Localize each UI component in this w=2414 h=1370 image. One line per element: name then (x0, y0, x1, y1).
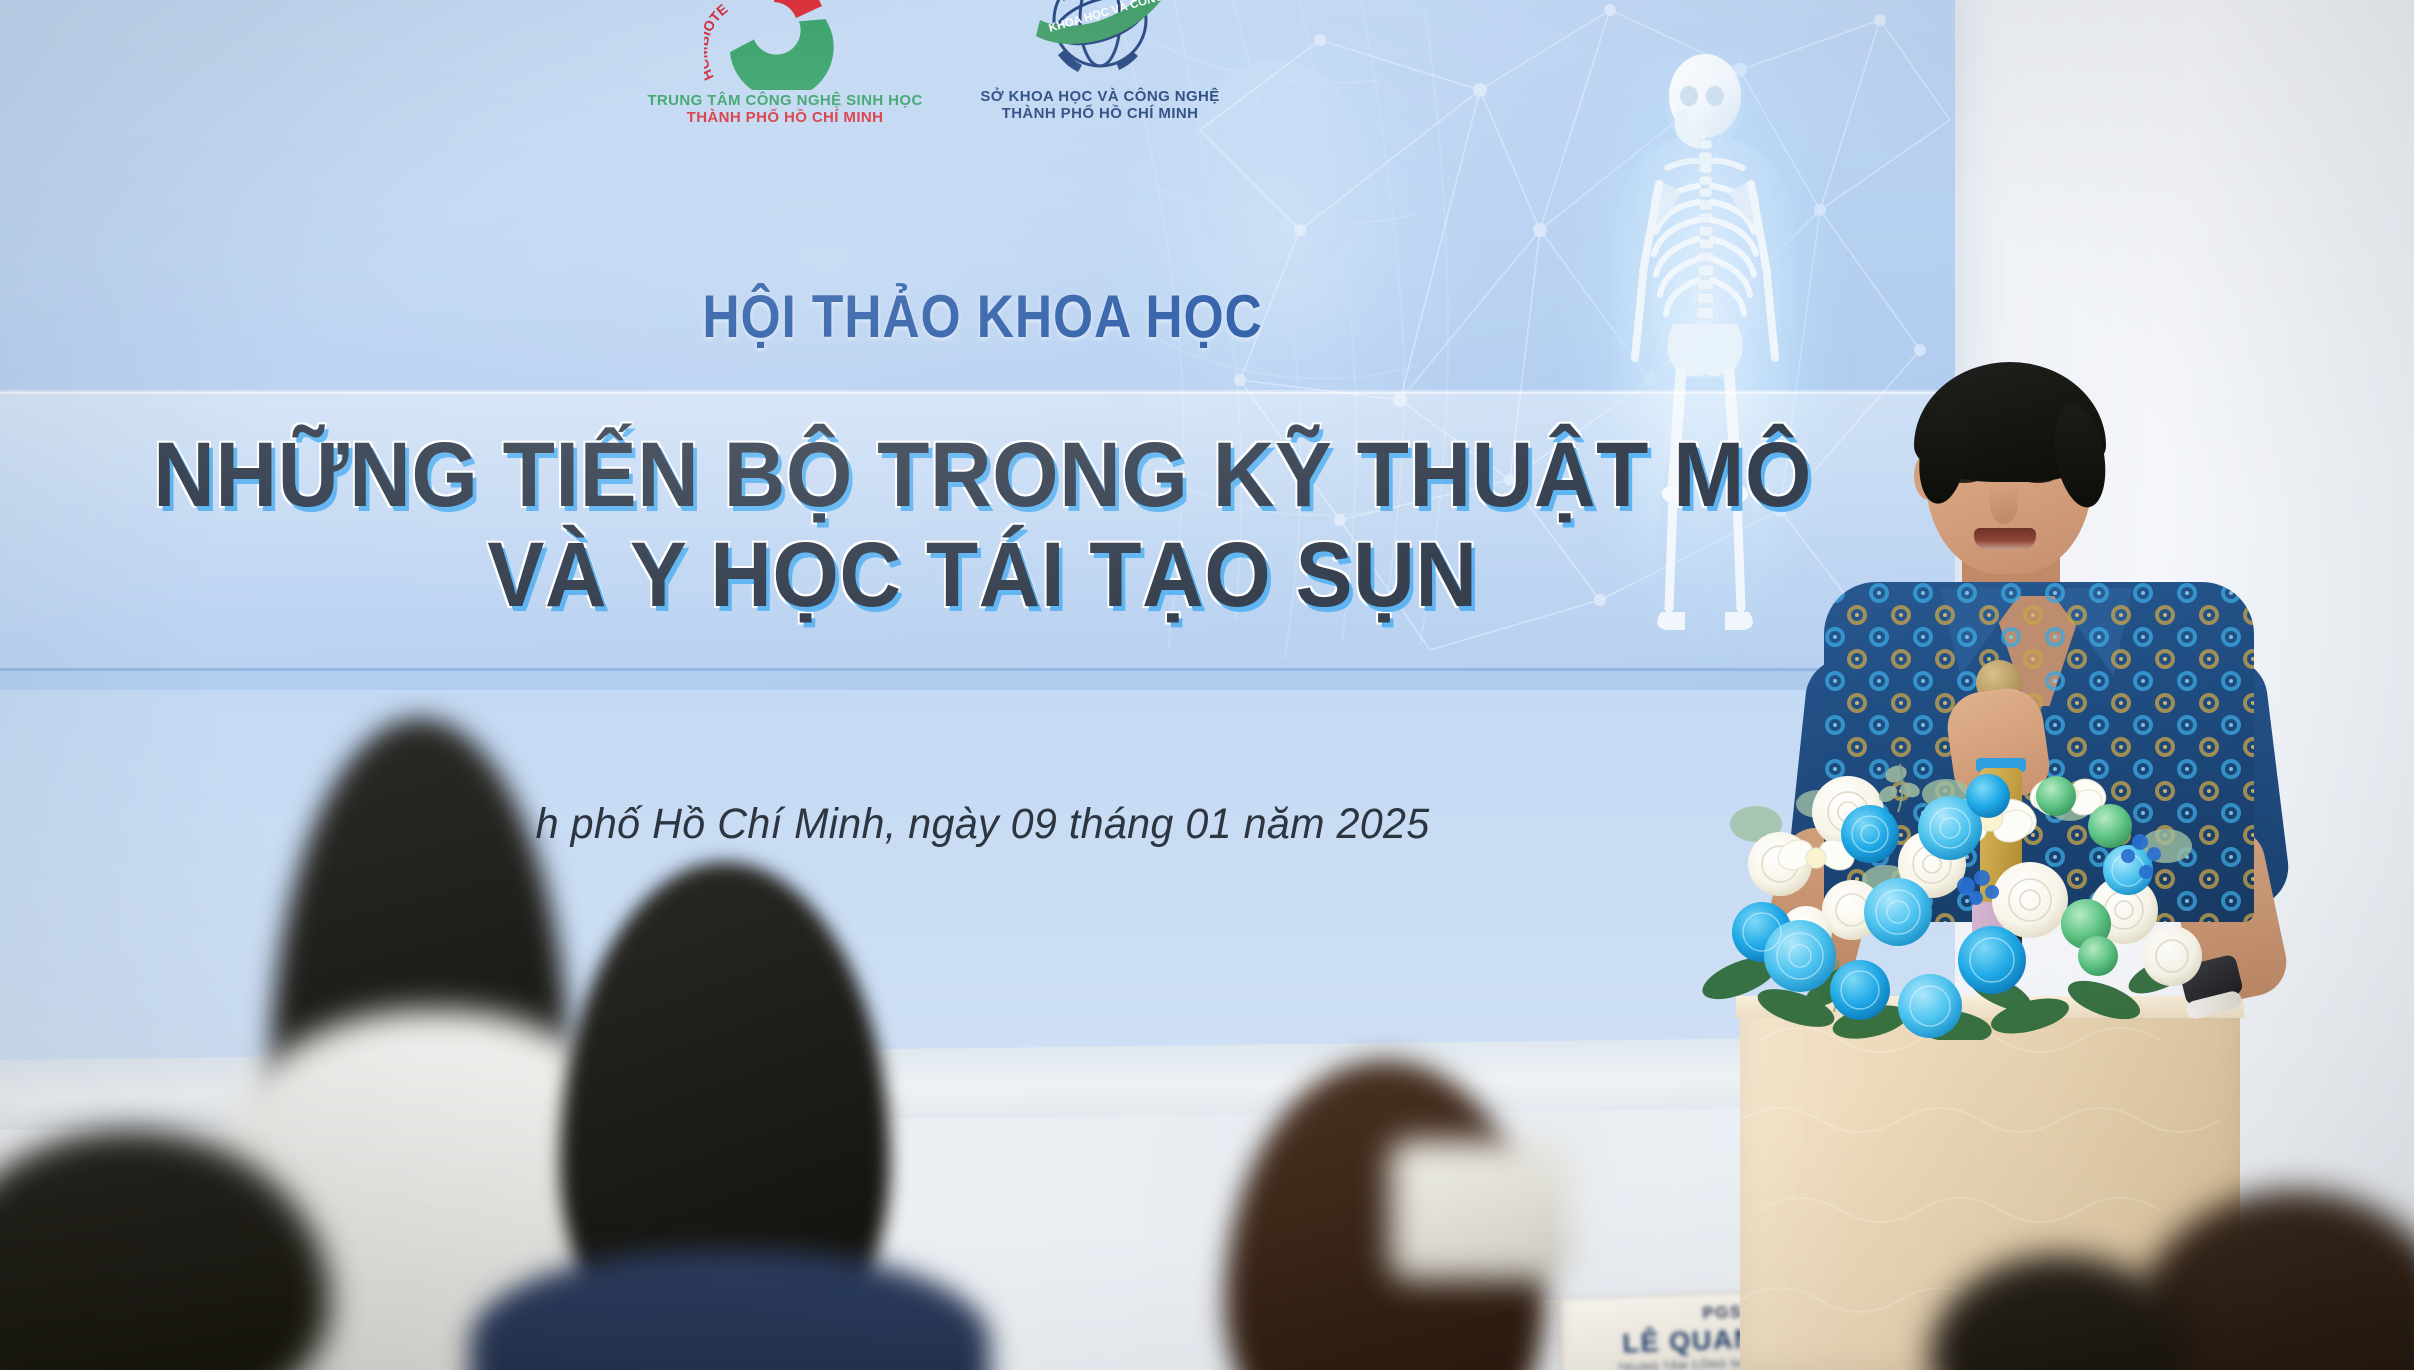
hair-clip (1390, 1140, 1570, 1280)
speaker-mouth (1974, 528, 2036, 550)
logo-sokhcn: KHOA HỌC VÀ CÔNG NGHỆ SỞ KHOA HỌC VÀ CÔN… (940, 0, 1260, 122)
hcmbiotech-wordmark: HCMBIOTECH (704, 0, 824, 104)
speaker-hair (1914, 362, 2106, 482)
svg-text:HCMBIOTECH: HCMBIOTECH (704, 0, 731, 83)
logo-row: HCMBIOTECH TRUNG TÂM CÔNG NGHỆ SINH HỌC … (640, 0, 1260, 132)
speaker-nose (1990, 484, 2018, 524)
sokhcn-globe-icon: KHOA HỌC VÀ CÔNG NGHỆ (1020, 0, 1180, 88)
slide-dateline: h phố Hồ Chí Minh, ngày 09 tháng 01 năm … (0, 800, 1965, 849)
flower-arrangement (1700, 760, 2220, 1040)
conference-photo: HCMBIOTECH TRUNG TÂM CÔNG NGHỆ SINH HỌC … (0, 0, 2414, 1370)
slide-title-line1: NHỮNG TIẾN BỘ TRONG KỸ THUẬT MÔ (69, 428, 1896, 523)
logo-hcmbiotech: HCMBIOTECH TRUNG TÂM CÔNG NGHỆ SINH HỌC … (640, 0, 930, 126)
band-top-rule (0, 392, 1955, 394)
slide-title-line2: VÀ Y HỌC TÁI TẠO SỤN (69, 528, 1896, 623)
logo-sokhcn-line2: THÀNH PHỐ HỒ CHÍ MINH (940, 105, 1260, 122)
logo-sokhcn-line1: SỞ KHOA HỌC VÀ CÔNG NGHỆ (940, 88, 1260, 105)
logo-hcmbiotech-line2: THÀNH PHỐ HỒ CHÍ MINH (640, 109, 930, 126)
slide-dateline-text: h phố Hồ Chí Minh, ngày 09 tháng 01 năm … (536, 800, 1430, 849)
band-bottom-rule (0, 668, 1955, 671)
slide-kicker: HỘI THẢO KHOA HỌC (138, 282, 1828, 351)
